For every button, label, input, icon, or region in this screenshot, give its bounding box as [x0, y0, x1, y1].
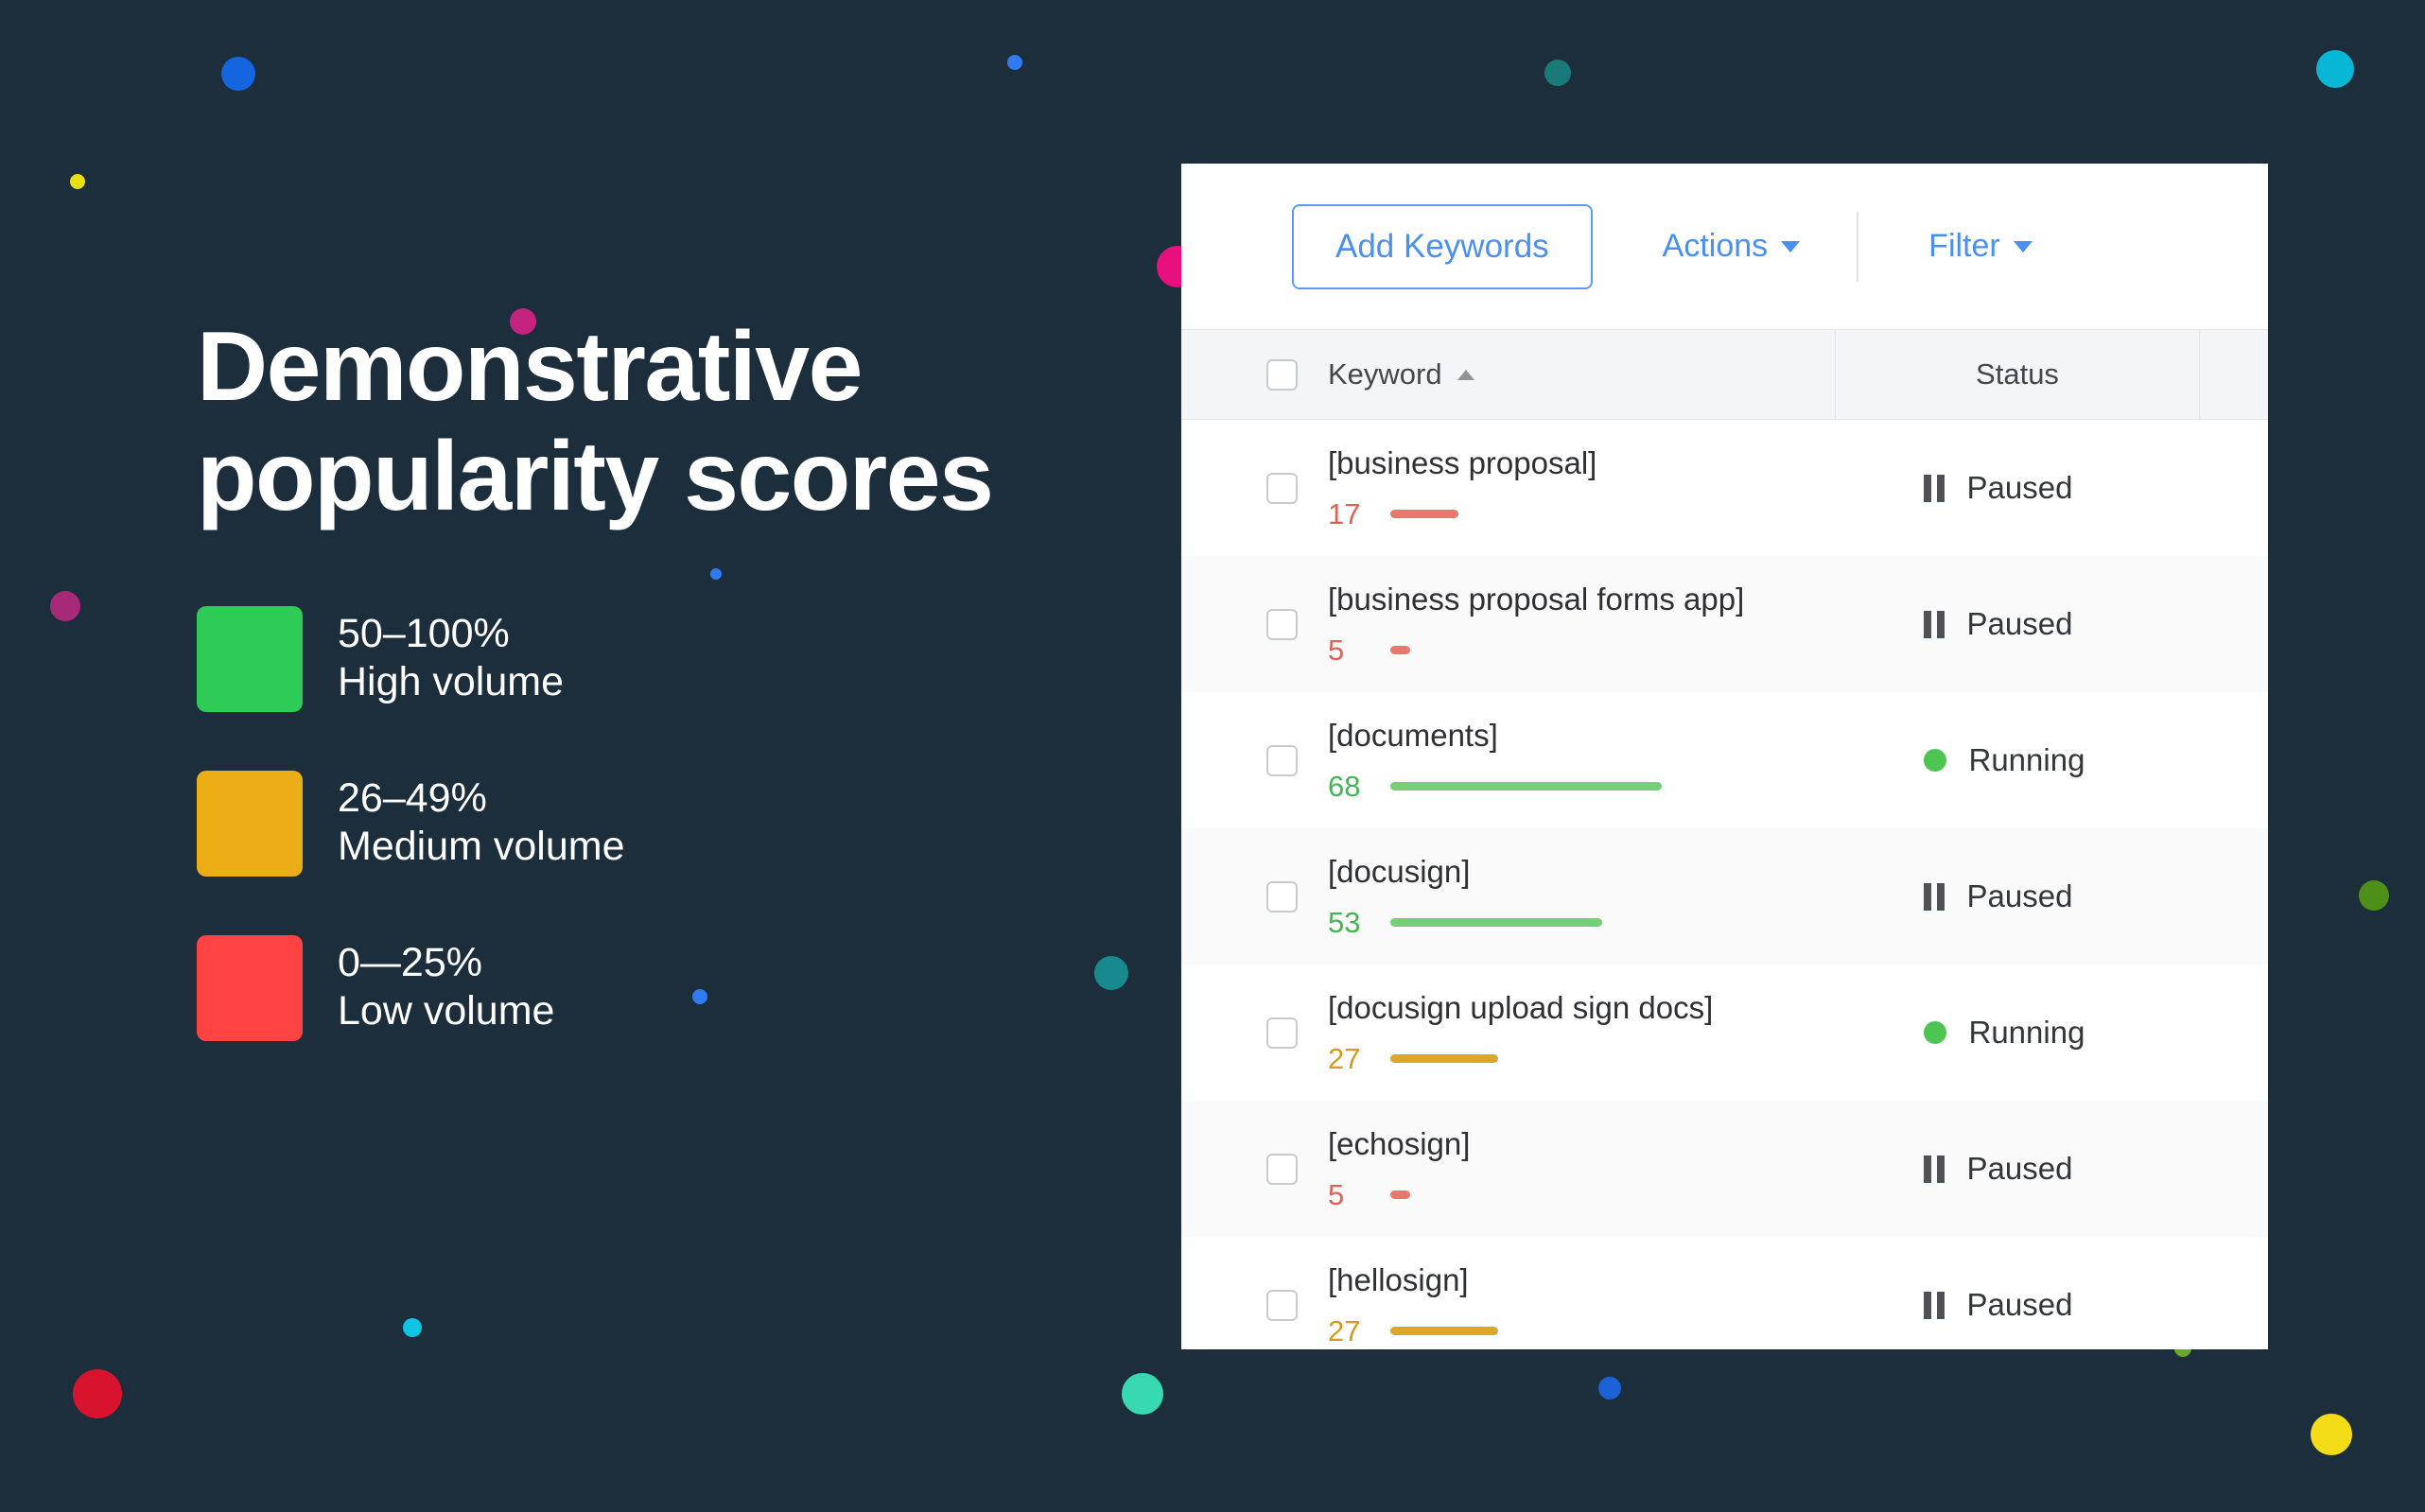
decorative-dot — [2359, 880, 2389, 911]
status-label: Paused — [1967, 1151, 2073, 1187]
popularity-metric: 53 — [1328, 908, 1602, 937]
status-label: Paused — [1967, 470, 2073, 506]
popularity-metric: 68 — [1328, 772, 1662, 801]
keyword-block: [business proposal]17 — [1328, 447, 1596, 529]
decorative-dot — [1598, 1377, 1621, 1399]
keyword-text[interactable]: [docusign upload sign docs] — [1328, 992, 1713, 1023]
decorative-dot — [70, 174, 85, 189]
cell-extra — [2200, 692, 2268, 828]
popularity-score: 5 — [1328, 635, 1375, 665]
cell-keyword: [docusign]53 — [1181, 828, 1836, 965]
add-keywords-button[interactable]: Add Keywords — [1292, 204, 1593, 289]
cell-keyword: [business proposal forms app]5 — [1181, 556, 1836, 692]
keyword-block: [documents]68 — [1328, 720, 1662, 801]
table-row[interactable]: [echosign]5Paused — [1181, 1101, 2268, 1237]
volume-legend: 50–100% High volume26–49% Medium volume0… — [197, 606, 1124, 1041]
running-dot-icon — [1924, 749, 1946, 772]
pause-icon — [1924, 1156, 1945, 1183]
decorative-dot — [1007, 55, 1022, 70]
popularity-bar — [1390, 782, 1662, 791]
table-row[interactable]: [hellosign]27Paused — [1181, 1237, 2268, 1349]
keyword-block: [hellosign]27 — [1328, 1264, 1498, 1346]
legend-item: 26–49% Medium volume — [197, 771, 1124, 877]
keyword-text[interactable]: [echosign] — [1328, 1128, 1470, 1159]
cell-status: Paused — [1836, 1237, 2200, 1349]
legend-item-label: 50–100% High volume — [338, 606, 564, 705]
status-label: Running — [1969, 1015, 2085, 1051]
keywords-panel: Add Keywords Actions Filter Keyword Stat… — [1181, 164, 2268, 1349]
popularity-metric: 5 — [1328, 1180, 1470, 1209]
legend-item-label: 0—25% Low volume — [338, 935, 554, 1034]
pause-icon — [1924, 1292, 1945, 1319]
slide-canvas: Demonstrative popularity scores 50–100% … — [0, 0, 2425, 1512]
cell-extra — [2200, 1101, 2268, 1237]
popularity-metric: 5 — [1328, 635, 1744, 665]
cell-status: Paused — [1836, 828, 2200, 965]
table-row[interactable]: [docusign upload sign docs]27Running — [1181, 965, 2268, 1101]
keyword-text[interactable]: [documents] — [1328, 720, 1662, 751]
legend-color-swatch — [197, 606, 303, 712]
cell-extra — [2200, 1237, 2268, 1349]
status-label: Running — [1969, 742, 2085, 778]
cell-keyword: [documents]68 — [1181, 692, 1836, 828]
row-select-checkbox[interactable] — [1266, 1017, 1298, 1049]
keyword-block: [echosign]5 — [1328, 1128, 1470, 1209]
filter-dropdown[interactable]: Filter — [1928, 228, 2032, 265]
status-label: Paused — [1967, 1287, 2073, 1323]
popularity-metric: 27 — [1328, 1316, 1498, 1346]
popularity-score: 27 — [1328, 1044, 1375, 1073]
popularity-bar — [1390, 646, 1410, 654]
keyword-block: [business proposal forms app]5 — [1328, 583, 1744, 665]
status-badge: Paused — [1924, 1287, 2113, 1323]
cell-status: Running — [1836, 692, 2200, 828]
popularity-metric: 27 — [1328, 1044, 1713, 1073]
select-all-checkbox[interactable] — [1266, 359, 1298, 391]
decorative-dot — [50, 591, 80, 621]
legend-item: 50–100% High volume — [197, 606, 1124, 712]
keywords-table: Keyword Status [business proposal]17Paus… — [1181, 329, 2268, 1349]
cell-extra — [2200, 965, 2268, 1101]
decorative-dot — [1122, 1373, 1163, 1415]
status-badge: Paused — [1924, 1151, 2113, 1187]
table-header-row: Keyword Status — [1181, 329, 2268, 420]
table-row[interactable]: [business proposal]17Paused — [1181, 420, 2268, 556]
status-badge: Running — [1924, 742, 2113, 778]
row-select-checkbox[interactable] — [1266, 609, 1298, 640]
popularity-bar — [1390, 1327, 1498, 1335]
table-body: [business proposal]17Paused[business pro… — [1181, 420, 2268, 1349]
keyword-text[interactable]: [business proposal forms app] — [1328, 583, 1744, 615]
popularity-metric: 17 — [1328, 499, 1596, 529]
popularity-bar — [1390, 1054, 1498, 1063]
popularity-score: 68 — [1328, 772, 1375, 801]
actions-dropdown[interactable]: Actions — [1663, 228, 1801, 265]
chevron-down-icon — [1781, 241, 1800, 252]
column-header-status[interactable]: Status — [1836, 330, 2200, 419]
column-header-keyword-label: Keyword — [1328, 357, 1442, 391]
filter-dropdown-label: Filter — [1928, 228, 2000, 265]
chevron-down-icon — [2014, 241, 2032, 252]
cell-keyword: [business proposal]17 — [1181, 420, 1836, 556]
row-select-checkbox[interactable] — [1266, 1290, 1298, 1321]
keyword-text[interactable]: [hellosign] — [1328, 1264, 1498, 1295]
cell-keyword: [hellosign]27 — [1181, 1237, 1836, 1349]
cell-status: Paused — [1836, 556, 2200, 692]
row-select-checkbox[interactable] — [1266, 473, 1298, 504]
table-row[interactable]: [documents]68Running — [1181, 692, 2268, 828]
decorative-dot — [221, 57, 255, 91]
column-header-extra — [2200, 330, 2268, 419]
page-title: Demonstrative popularity scores — [197, 312, 1124, 532]
keyword-block: [docusign upload sign docs]27 — [1328, 992, 1713, 1073]
status-badge: Paused — [1924, 878, 2113, 914]
cell-keyword: [echosign]5 — [1181, 1101, 1836, 1237]
cell-extra — [2200, 828, 2268, 965]
status-badge: Paused — [1924, 606, 2113, 642]
status-label: Paused — [1967, 606, 2073, 642]
status-label: Paused — [1967, 878, 2073, 914]
actions-dropdown-label: Actions — [1663, 228, 1769, 265]
decorative-dot — [1544, 60, 1571, 86]
keyword-text[interactable]: [business proposal] — [1328, 447, 1596, 478]
status-badge: Paused — [1924, 470, 2113, 506]
column-header-status-label: Status — [1976, 357, 2059, 391]
pause-icon — [1924, 611, 1945, 638]
cell-status: Paused — [1836, 420, 2200, 556]
cell-status: Paused — [1836, 1101, 2200, 1237]
left-content-column: Demonstrative popularity scores 50–100% … — [197, 312, 1124, 1100]
popularity-score: 27 — [1328, 1316, 1375, 1346]
table-row[interactable]: [business proposal forms app]5Paused — [1181, 556, 2268, 692]
panel-toolbar: Add Keywords Actions Filter — [1181, 164, 2268, 329]
popularity-bar — [1390, 918, 1602, 927]
legend-color-swatch — [197, 771, 303, 877]
status-badge: Running — [1924, 1015, 2113, 1051]
decorative-dot — [2316, 50, 2354, 88]
toolbar-divider — [1857, 212, 1858, 282]
cell-extra — [2200, 420, 2268, 556]
popularity-score: 17 — [1328, 499, 1375, 529]
pause-icon — [1924, 883, 1945, 911]
cell-status: Running — [1836, 965, 2200, 1101]
popularity-score: 53 — [1328, 908, 1375, 937]
keyword-block: [docusign]53 — [1328, 856, 1602, 937]
popularity-score: 5 — [1328, 1180, 1375, 1209]
decorative-dot — [2311, 1414, 2352, 1455]
legend-item: 0—25% Low volume — [197, 935, 1124, 1041]
keyword-text[interactable]: [docusign] — [1328, 856, 1602, 887]
popularity-bar — [1390, 1190, 1410, 1199]
legend-color-swatch — [197, 935, 303, 1041]
row-select-checkbox[interactable] — [1266, 881, 1298, 912]
decorative-dot — [403, 1318, 422, 1337]
sort-ascending-icon — [1457, 370, 1474, 380]
row-select-checkbox[interactable] — [1266, 745, 1298, 776]
running-dot-icon — [1924, 1021, 1946, 1044]
table-row[interactable]: [docusign]53Paused — [1181, 828, 2268, 965]
popularity-bar — [1390, 510, 1458, 518]
cell-keyword: [docusign upload sign docs]27 — [1181, 965, 1836, 1101]
cell-extra — [2200, 556, 2268, 692]
column-header-keyword[interactable]: Keyword — [1181, 330, 1836, 419]
row-select-checkbox[interactable] — [1266, 1154, 1298, 1185]
pause-icon — [1924, 475, 1945, 502]
legend-item-label: 26–49% Medium volume — [338, 771, 625, 870]
decorative-dot — [73, 1369, 122, 1418]
